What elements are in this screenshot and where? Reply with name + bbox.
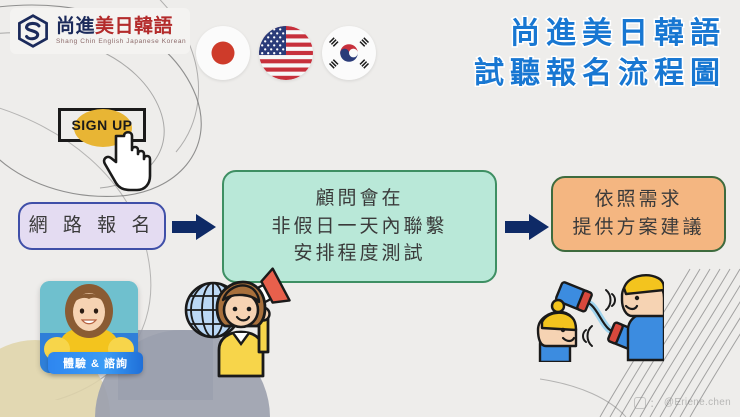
poster-canvas: 尚進美日韓語 Shang Chin English Japanese Korea… <box>0 0 740 417</box>
flow-step-3: 依照需求 提供方案建議 <box>551 176 726 252</box>
experience-consult-badge[interactable]: 體驗 & 諮詢 <box>48 352 143 374</box>
flow-step-1-line-1: 網 路 報 名 <box>29 212 156 240</box>
logo-mark-icon <box>16 14 50 48</box>
sign-up-label: SIGN UP <box>71 117 132 133</box>
title-line-2: 試聽報名流程圖 <box>474 58 726 90</box>
japan-flag-icon <box>196 26 250 80</box>
flow-step-3-line-2: 提供方案建議 <box>572 214 704 242</box>
experience-consult-badge-label: 體驗 & 諮詢 <box>63 355 128 371</box>
logo-cn-part1: 尚進 <box>56 16 95 37</box>
flag-group <box>196 26 376 80</box>
watermark: ： @Eriene.chen <box>634 395 731 410</box>
flow-step-2-line-2: 非假日一天內聯繫 <box>271 213 447 241</box>
sign-up-graphic: SIGN UP <box>58 108 146 142</box>
title-line-1: 尚進美日韓語 <box>474 18 726 50</box>
flow-arrow-1 <box>172 214 216 240</box>
flow-step-1: 網 路 報 名 <box>18 202 166 250</box>
flow-step-3-line-1: 依照需求 <box>594 186 682 214</box>
usa-flag-icon <box>259 26 313 80</box>
logo-english-subtitle: Shang Chin English Japanese Korean <box>56 39 186 46</box>
pointing-hand-icon <box>94 130 156 196</box>
flow-arrow-2 <box>505 214 549 240</box>
woman-megaphone-globe-icon <box>175 262 295 380</box>
watermark-handle: @Eriene.chen <box>664 397 731 408</box>
instagram-icon <box>634 397 646 409</box>
logo-cn-part2: 美日韓語 <box>95 16 173 37</box>
tin-can-phone-talking-icon <box>536 272 664 362</box>
watermark-separator: ： <box>650 395 660 410</box>
korea-flag-icon <box>322 26 376 80</box>
poster-title: 尚進美日韓語 試聽報名流程圖 <box>474 18 726 91</box>
brand-logo: 尚進美日韓語 Shang Chin English Japanese Korea… <box>10 8 190 54</box>
logo-chinese-name: 尚進美日韓語 <box>56 17 186 36</box>
flow-step-2-line-3: 安排程度測試 <box>293 240 425 268</box>
flow-step-2-line-1: 顧問會在 <box>315 185 403 213</box>
